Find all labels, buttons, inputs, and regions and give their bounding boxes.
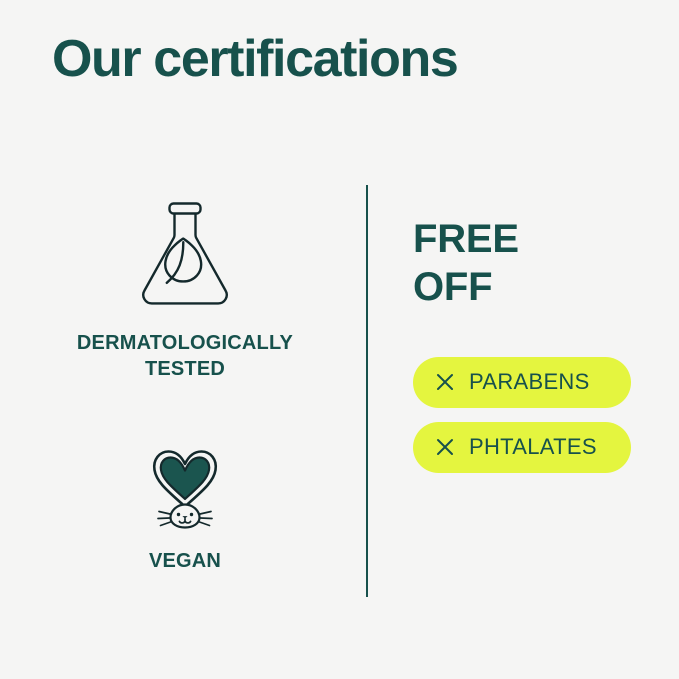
free-from-pill-phtalates[interactable]: PHTALATES xyxy=(413,422,631,473)
certification-label: VEGAN xyxy=(149,548,221,574)
vegan-bunny-heart-icon xyxy=(133,430,237,534)
flask-leaf-icon xyxy=(133,198,237,314)
column-divider xyxy=(366,185,368,597)
certifications-column: DERMATOLOGICALLY TESTED xyxy=(20,170,350,610)
free-from-pill-parabens[interactable]: PARABENS xyxy=(413,357,631,408)
certification-label: DERMATOLOGICALLY TESTED xyxy=(35,330,335,382)
certifications-panel: Our certifications xyxy=(0,0,679,679)
page-title: Our certifications xyxy=(52,28,457,90)
free-from-pill-label: PARABENS xyxy=(469,369,590,395)
free-from-pill-list: PARABENS PHTALATES xyxy=(413,357,660,473)
certification-item-vegan: VEGAN xyxy=(20,430,350,574)
free-off-line-1: FREE xyxy=(413,215,519,263)
certification-item-dermatologically-tested: DERMATOLOGICALLY TESTED xyxy=(20,198,350,382)
free-from-pill-label: PHTALATES xyxy=(469,434,597,460)
x-icon xyxy=(435,437,455,457)
certifications-columns: DERMATOLOGICALLY TESTED xyxy=(0,170,679,610)
free-off-line-2: OFF xyxy=(413,263,519,311)
free-off-heading: FREE OFF xyxy=(413,215,519,311)
free-from-column: FREE OFF PARABENS xyxy=(390,170,660,610)
x-icon xyxy=(435,372,455,392)
